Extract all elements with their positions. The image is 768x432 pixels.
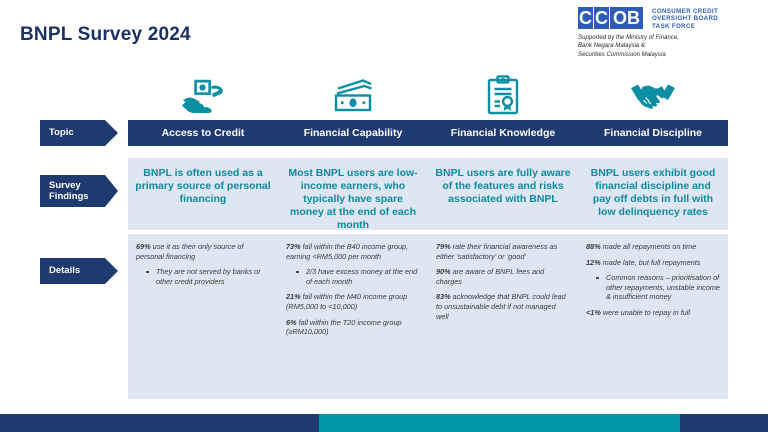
- detail-stat-text: use it as their only source of personal …: [136, 242, 244, 261]
- detail-stat-value: <1%: [586, 308, 601, 317]
- detail-stat-text: fall within the M40 income group (RM5,00…: [286, 292, 407, 311]
- finding-panel-financial-capability: Most BNPL users are low-income earners, …: [278, 158, 428, 230]
- ccob-logo: C C OB CONSUMER CREDIT OVERSIGHT BOARD T…: [578, 7, 754, 63]
- details-panel-access-to-credit: 69% use it as their only source of perso…: [128, 234, 278, 399]
- footer-segment-navy-right: [680, 414, 768, 432]
- logo-letter-c2: C: [594, 7, 609, 29]
- details-panel-financial-knowledge: 79% rate their financial awareness as ei…: [428, 234, 578, 399]
- detail-stat-text: are aware of BNPL fees and charges: [436, 267, 544, 286]
- detail-stat: 69% use it as their only source of perso…: [136, 242, 270, 261]
- column-header-access-to-credit[interactable]: Access to Credit: [128, 120, 278, 146]
- detail-stat-text: made all repayments on time: [601, 242, 697, 251]
- detail-stat: 12% made late, but full repayments: [586, 258, 720, 268]
- hand-giving-money-icon: [128, 72, 278, 118]
- detail-stat-value: 73%: [286, 242, 301, 251]
- ccob-wordmark: C C OB: [578, 7, 643, 29]
- finding-text: BNPL is often used as a primary source o…: [135, 167, 271, 206]
- detail-stat-value: 21%: [286, 292, 301, 301]
- logo-support-line-3: Securities Commission Malaysia: [578, 51, 754, 59]
- detail-bullet-item: 2/3 have excess money at the end of each…: [306, 267, 420, 286]
- logo-support-text: Supported by the Ministry of Finance, Ba…: [578, 34, 754, 59]
- column-header-label: Financial Discipline: [604, 127, 702, 139]
- logo-letters-ob: OB: [610, 7, 643, 29]
- detail-stat-text: rate their financial awareness as either…: [436, 242, 557, 261]
- detail-stat: 88% made all repayments on time: [586, 242, 720, 252]
- column-header-label: Access to Credit: [162, 127, 245, 139]
- finding-text: BNPL users are fully aware of the featur…: [435, 167, 571, 206]
- detail-stat: 21% fall within the M40 income group (RM…: [286, 292, 420, 311]
- detail-stat-text: were unable to repay in full: [601, 308, 690, 317]
- clipboard-certificate-icon: [428, 72, 578, 118]
- finding-panel-financial-knowledge: BNPL users are fully aware of the featur…: [428, 158, 578, 230]
- finding-text: BNPL users exhibit good financial discip…: [585, 167, 721, 219]
- column-header-financial-discipline[interactable]: Financial Discipline: [578, 120, 728, 146]
- column-header-financial-knowledge[interactable]: Financial Knowledge: [428, 120, 578, 146]
- detail-stat-value: 69%: [136, 242, 151, 251]
- detail-stat-text: made late, but full repayments: [601, 258, 701, 267]
- detail-stat-value: 83%: [436, 292, 451, 301]
- detail-stat: <1% were unable to repay in full: [586, 308, 720, 318]
- detail-bullet-list: 2/3 have excess money at the end of each…: [286, 267, 420, 286]
- logo-org-line-2: OVERSIGHT BOARD: [652, 15, 718, 22]
- row-label-line-2: Findings: [49, 191, 89, 202]
- finding-panel-financial-discipline: BNPL users exhibit good financial discip…: [578, 158, 728, 230]
- column-header-label: Financial Capability: [304, 127, 403, 139]
- logo-org-line-3: TASK FORCE: [652, 23, 718, 30]
- logo-letter-c1: C: [578, 7, 593, 29]
- row-label-details-text: Details: [49, 265, 80, 277]
- detail-stat: 83% acknowledge that BNPL could lead to …: [436, 292, 570, 321]
- detail-stat: 79% rate their financial awareness as ei…: [436, 242, 570, 261]
- row-label-survey-findings-text: Survey Findings: [49, 180, 89, 203]
- detail-stat-value: 6%: [286, 318, 297, 327]
- row-label-survey-findings: Survey Findings: [40, 175, 118, 207]
- logo-support-line-2: Bank Negara Malaysia &: [578, 42, 754, 50]
- detail-bullet-item: They are not served by banks or other cr…: [156, 267, 270, 286]
- detail-stat: 6% fall within the T20 income group (≥RM…: [286, 318, 420, 337]
- handshake-icon: [578, 72, 728, 118]
- column-header-financial-capability[interactable]: Financial Capability: [278, 120, 428, 146]
- banknotes-icon: [278, 72, 428, 118]
- finding-text: Most BNPL users are low-income earners, …: [285, 167, 421, 232]
- row-label-details: Details: [40, 258, 118, 284]
- detail-stat: 90% are aware of BNPL fees and charges: [436, 267, 570, 286]
- page-title: BNPL Survey 2024: [20, 24, 191, 46]
- details-panel-financial-discipline: 88% made all repayments on time 12% made…: [578, 234, 728, 399]
- detail-bullet-item: Common reasons – prioritisation of other…: [606, 273, 720, 302]
- detail-stat-value: 90%: [436, 267, 451, 276]
- detail-stat-text: acknowledge that BNPL could lead to unsu…: [436, 292, 566, 320]
- detail-bullet-list: They are not served by banks or other cr…: [136, 267, 270, 286]
- detail-stat-value: 88%: [586, 242, 601, 251]
- detail-stat-text: fall within the B40 income group, earnin…: [286, 242, 408, 261]
- footer-segment-navy-left: [0, 414, 319, 432]
- row-label-line-1: Survey: [49, 180, 81, 191]
- logo-org-name: CONSUMER CREDIT OVERSIGHT BOARD TASK FOR…: [652, 7, 718, 30]
- detail-bullet-list: Common reasons – prioritisation of other…: [586, 273, 720, 302]
- row-label-topic: Topic: [40, 120, 118, 146]
- detail-stat-value: 79%: [436, 242, 451, 251]
- column-header-label: Financial Knowledge: [451, 127, 555, 139]
- finding-panel-access-to-credit: BNPL is often used as a primary source o…: [128, 158, 278, 230]
- logo-support-line-1: Supported by the Ministry of Finance,: [578, 34, 754, 42]
- footer-segment-teal: [319, 414, 680, 432]
- footer-bar: [0, 414, 768, 432]
- logo-org-line-1: CONSUMER CREDIT: [652, 8, 718, 15]
- detail-stat-text: fall within the T20 income group (≥RM10,…: [286, 318, 402, 337]
- details-panel-financial-capability: 73% fall within the B40 income group, ea…: [278, 234, 428, 399]
- detail-stat-value: 12%: [586, 258, 601, 267]
- row-label-topic-text: Topic: [49, 127, 74, 139]
- detail-stat: 73% fall within the B40 income group, ea…: [286, 242, 420, 261]
- slide-canvas: BNPL Survey 2024 C C OB CONSUMER CREDIT …: [0, 0, 768, 432]
